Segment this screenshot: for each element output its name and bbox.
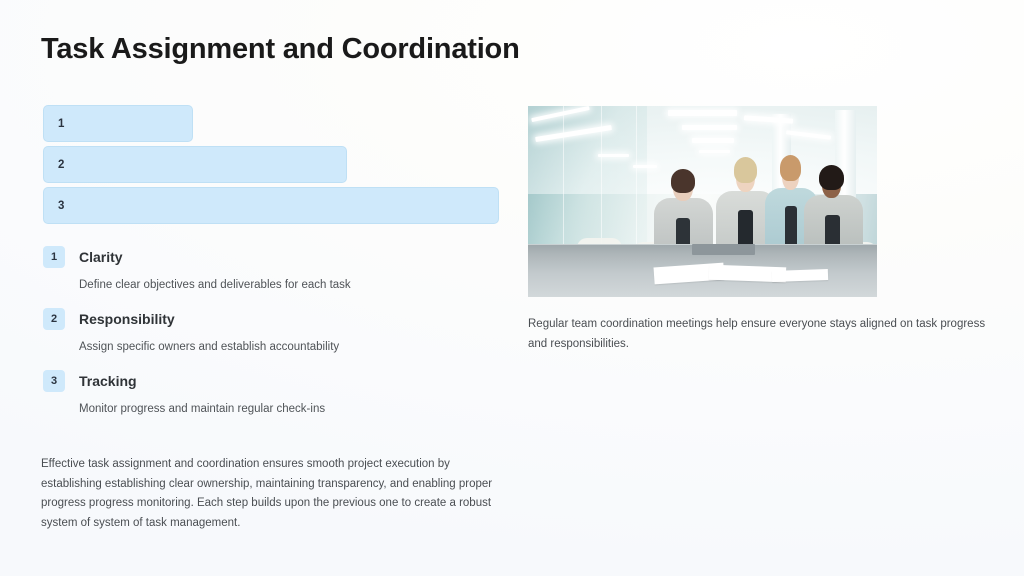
person-4-hair: [819, 165, 844, 190]
step-1-header: 1 Clarity: [43, 246, 513, 268]
page-title: Task Assignment and Coordination: [41, 33, 520, 66]
step-2-description: Assign specific owners and establish acc…: [79, 339, 513, 355]
bar-1-label: 1: [44, 118, 64, 130]
bar-2: 2: [43, 146, 347, 183]
bar-row: 1: [43, 105, 503, 142]
person-1-hair: [671, 169, 695, 193]
ceiling-light: [668, 110, 738, 116]
laptop: [692, 244, 755, 255]
step-3-description: Monitor progress and maintain regular ch…: [79, 401, 513, 417]
bar-1: 1: [43, 105, 193, 142]
progression-bar-chart: 1 2 3: [43, 105, 503, 228]
list-item: 2 Responsibility Assign specific owners …: [43, 308, 513, 355]
documents: [772, 269, 828, 282]
steps-list: 1 Clarity Define clear objectives and de…: [43, 246, 513, 427]
bar-2-label: 2: [44, 159, 64, 171]
photo-caption: Regular team coordination meetings help …: [528, 314, 988, 354]
step-1-badge: 1: [43, 246, 65, 268]
summary-paragraph: Effective task assignment and coordinati…: [41, 455, 503, 533]
bar-row: 3: [43, 187, 503, 224]
person-4: [804, 146, 863, 257]
bar-3: 3: [43, 187, 499, 224]
person-3-hair: [780, 155, 801, 181]
bar-3-label: 3: [44, 200, 64, 212]
step-2-header: 2 Responsibility: [43, 308, 513, 330]
person-2-hair: [734, 157, 758, 183]
list-item: 1 Clarity Define clear objectives and de…: [43, 246, 513, 293]
step-1-description: Define clear objectives and deliverables…: [79, 277, 513, 293]
photo-inner: [528, 106, 877, 297]
step-3-title: Tracking: [79, 373, 137, 389]
step-2-badge: 2: [43, 308, 65, 330]
ceiling-light: [682, 125, 738, 130]
step-1-title: Clarity: [79, 249, 123, 265]
list-item: 3 Tracking Monitor progress and maintain…: [43, 370, 513, 417]
person-1: [654, 150, 713, 257]
slide-canvas: Task Assignment and Coordination 1 2 3 1…: [0, 0, 1024, 576]
step-3-header: 3 Tracking: [43, 370, 513, 392]
step-3-badge: 3: [43, 370, 65, 392]
meeting-photo: [528, 106, 877, 297]
step-2-title: Responsibility: [79, 311, 175, 327]
ceiling-light: [598, 154, 629, 157]
bar-row: 2: [43, 146, 503, 183]
